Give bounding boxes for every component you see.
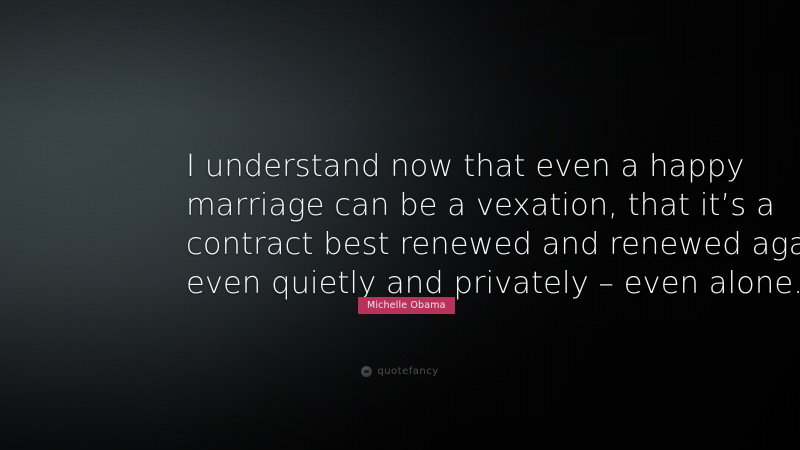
- quote-line-1: I understand now that even a happy: [186, 147, 716, 186]
- watermark[interactable]: quotefancy: [0, 366, 800, 377]
- author-badge[interactable]: Michelle Obama: [358, 297, 455, 314]
- quote-text: I understand now that even a happy marri…: [186, 147, 716, 303]
- quote-poster: I understand now that even a happy marri…: [0, 0, 800, 450]
- quote-line-2: marriage can be a vexation, that it’s a: [186, 186, 716, 225]
- poster-content: I understand now that even a happy marri…: [0, 0, 800, 450]
- watermark-brand-label: quotefancy: [377, 366, 438, 377]
- quotefancy-logo-icon: [361, 366, 372, 377]
- author-name: Michelle Obama: [367, 300, 446, 311]
- quote-line-3: contract best renewed and renewed again,: [186, 225, 716, 264]
